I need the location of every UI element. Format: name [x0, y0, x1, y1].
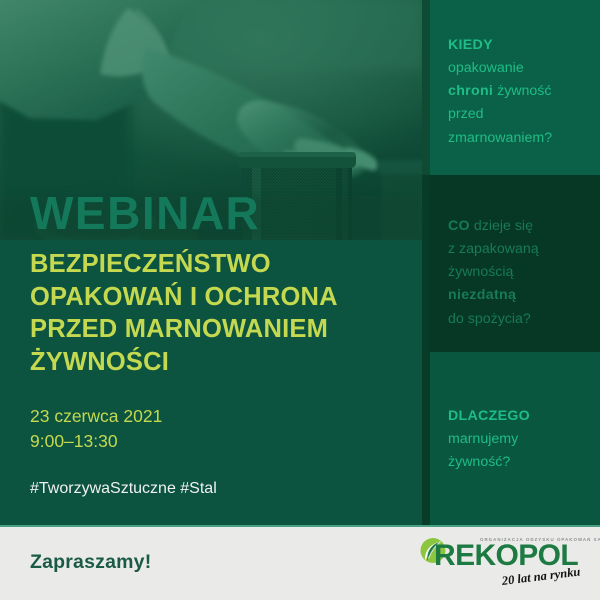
title-line: PRZED MARNOWANIEM — [30, 313, 408, 346]
question-line: do spożycia? — [448, 311, 531, 327]
title-line: OPAKOWAŃ I OCHRONA — [30, 281, 408, 314]
title-line: BEZPIECZEŃSTWO — [30, 248, 408, 281]
question-keyword: DLACZEGO — [448, 408, 530, 424]
question-line: żywność? — [448, 454, 510, 470]
question-text-dlaczego: DLACZEGO marnujemy żywność? — [448, 405, 593, 474]
question-keyword: CO — [448, 218, 470, 234]
question-line: dzieje się — [470, 218, 533, 234]
webinar-poster: WEBINAR BEZPIECZEŃSTWO OPAKOWAŃ I OCHRON… — [0, 0, 600, 600]
event-datetime: 23 czerwca 2021 9:00–13:30 — [30, 404, 162, 454]
question-line: przed — [448, 106, 484, 122]
question-panel-kiedy: KIEDY opakowanie chroni żywność przed zm… — [430, 0, 600, 175]
footer-divider — [0, 525, 600, 527]
hashtags: #TworzywaSztuczne #Stal — [30, 480, 217, 498]
column-divider-top — [422, 0, 430, 175]
event-time: 9:00–13:30 — [30, 429, 162, 454]
title-line: ŻYWNOŚCI — [30, 346, 408, 379]
question-emphasis: chroni — [448, 83, 493, 99]
left-column: WEBINAR BEZPIECZEŃSTWO OPAKOWAŃ I OCHRON… — [0, 0, 422, 525]
question-keyword: KIEDY — [448, 37, 493, 53]
kicker-webinar: WEBINAR — [30, 190, 260, 236]
question-panel-co: CO dzieje się z zapakowaną żywnością nie… — [430, 175, 600, 352]
question-emphasis: niezdatną — [448, 287, 516, 303]
footer-cta: Zapraszamy! — [30, 551, 151, 574]
event-date: 23 czerwca 2021 — [30, 404, 162, 429]
rekopol-logo: ORGANIZACJA ODZYSKU OPAKOWAŃ SA REKOPOL … — [418, 536, 586, 594]
question-line: opakowanie — [448, 60, 524, 76]
question-text-kiedy: KIEDY opakowanie chroni żywność przed zm… — [448, 34, 593, 150]
question-line: żywnością — [448, 264, 513, 280]
question-line: zmarnowaniem? — [448, 130, 552, 146]
question-panel-dlaczego: DLACZEGO marnujemy żywność? — [430, 352, 600, 525]
page-title: BEZPIECZEŃSTWO OPAKOWAŃ I OCHRONA PRZED … — [30, 248, 408, 379]
question-line: żywność — [493, 83, 551, 99]
question-text-co: CO dzieje się z zapakowaną żywnością nie… — [448, 215, 593, 331]
question-line: marnujemy — [448, 431, 518, 447]
question-line: z zapakowaną — [448, 241, 539, 257]
